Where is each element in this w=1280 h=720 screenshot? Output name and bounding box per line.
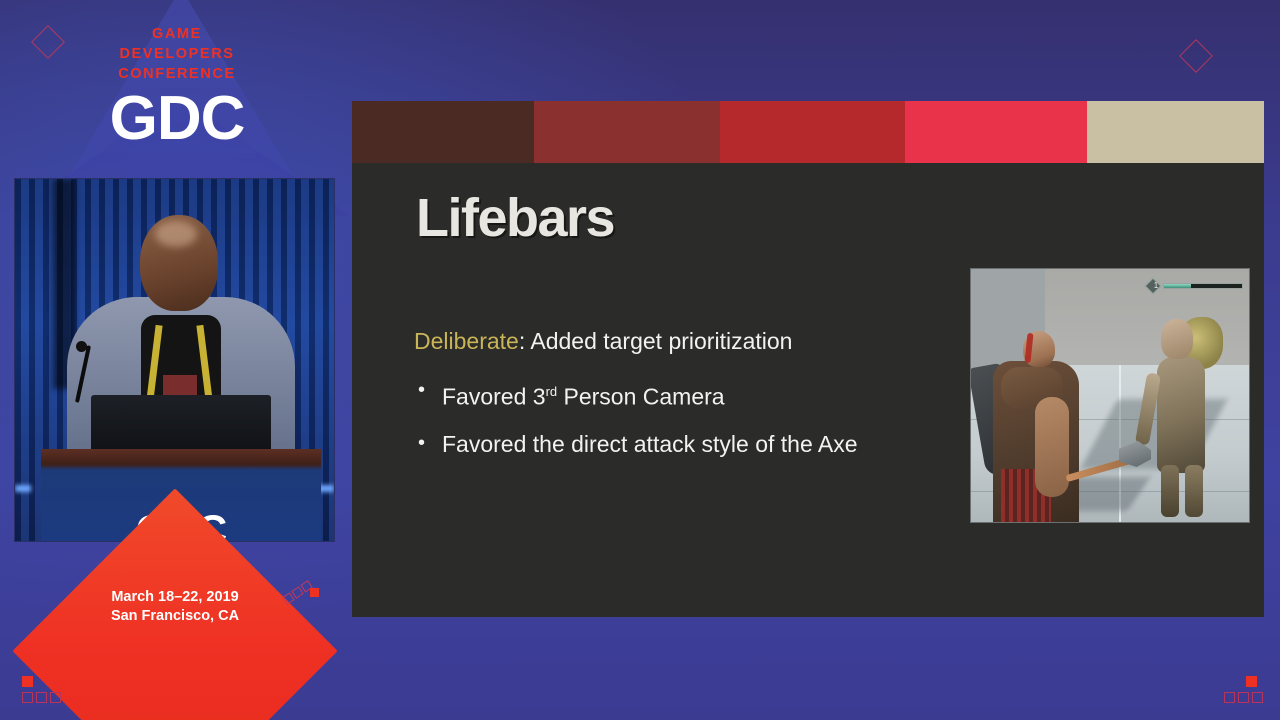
microphone-head-icon (76, 341, 87, 352)
color-band-bright-red (905, 101, 1087, 163)
slide-lead-keyword: Deliberate (414, 328, 519, 354)
decor-dot-bottom-right (1246, 676, 1257, 687)
decor-squares-bottom-right (1224, 690, 1266, 708)
speaker-video[interactable]: GDC (14, 178, 335, 542)
color-band-muted-red (534, 101, 720, 163)
enemy-leg-right (1185, 465, 1203, 517)
presentation-slide[interactable]: Lifebars Deliberate: Added target priori… (352, 101, 1264, 617)
gdc-logo-line-3: CONFERENCE (88, 64, 266, 84)
slide-color-band-strip (352, 101, 1264, 163)
conference-location: San Francisco, CA (60, 607, 290, 626)
lifebar-track (1163, 283, 1243, 289)
bullet-text-before: Favored 3 (442, 384, 546, 410)
bullet-text-before: Favored the direct attack style of the A… (442, 431, 858, 457)
slide-bullet: Favored the direct attack style of the A… (414, 429, 934, 460)
decor-dot-badge (310, 588, 319, 597)
color-band-medium-red (720, 101, 905, 163)
conference-dates: March 18–22, 2019 (60, 588, 290, 607)
color-band-beige-tan (1087, 101, 1264, 163)
lifebar-level-value: 1 (1150, 279, 1162, 292)
enemy-body (1157, 357, 1205, 473)
slide-lead-line: Deliberate: Added target prioritization (414, 326, 934, 356)
speaker-head-highlight (155, 221, 197, 247)
decor-squares-bottom-left (22, 690, 64, 708)
decor-dot-bottom-left (22, 676, 33, 687)
game-screenshot: 1 (970, 268, 1250, 523)
color-band-dark-brown (352, 101, 534, 163)
gdc-logo-line-2: DEVELOPERS (88, 44, 266, 64)
slide-lead-rest: : Added target prioritization (519, 328, 793, 354)
bullet-text-after: Person Camera (557, 384, 724, 410)
bullet-ordinal-suffix: rd (546, 384, 558, 399)
gdc-wordmark: GDC (88, 88, 266, 150)
slide-bullet: Favored 3rd Person Camera (414, 376, 934, 413)
stage-light-left (15, 485, 31, 492)
date-badge-text: March 18–22, 2019 San Francisco, CA (60, 588, 290, 626)
gdc-talk-recording-frame: GAME DEVELOPERS CONFERENCE GDC GDC March… (0, 0, 1280, 720)
gdc-logo-line-1: GAME (88, 24, 266, 44)
date-location-badge: March 18–22, 2019 San Francisco, CA (60, 536, 290, 720)
lifebar-fill (1164, 284, 1191, 288)
enemy-lifebar-hud: 1 (1147, 280, 1243, 292)
gdc-logo: GAME DEVELOPERS CONFERENCE GDC (88, 24, 266, 150)
enemy-head (1161, 319, 1193, 359)
enemy-leg-left (1161, 465, 1179, 517)
slide-body: Deliberate: Added target prioritization … (414, 326, 934, 476)
kratos-arm (1035, 397, 1069, 497)
slide-title: Lifebars (416, 189, 614, 247)
